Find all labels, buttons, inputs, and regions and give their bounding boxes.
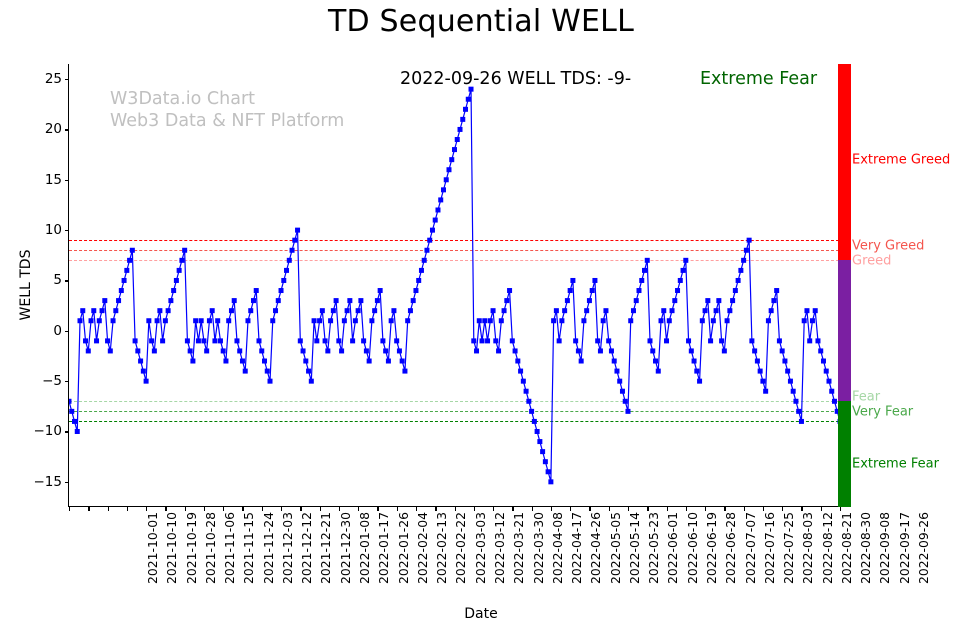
- data-point: [824, 369, 829, 374]
- data-point: [570, 278, 575, 283]
- x-tick-mark: [686, 506, 687, 511]
- data-point: [394, 338, 399, 343]
- data-point: [163, 318, 168, 323]
- data-point: [383, 348, 388, 353]
- x-tick-label-2: 2021-10-19: [184, 512, 199, 584]
- colorbar-label-greed: Greed: [852, 254, 891, 269]
- data-point: [631, 308, 636, 313]
- data-point: [279, 288, 284, 293]
- data-point: [744, 248, 749, 253]
- data-point: [416, 278, 421, 283]
- x-tick-mark: [647, 506, 648, 511]
- data-point: [138, 359, 143, 364]
- data-point: [182, 248, 187, 253]
- data-point: [603, 308, 608, 313]
- y-tick-mark: [65, 180, 70, 181]
- data-point: [818, 348, 823, 353]
- data-point: [639, 278, 644, 283]
- data-point: [234, 338, 239, 343]
- data-point: [207, 318, 212, 323]
- data-point: [179, 258, 184, 263]
- data-point: [634, 298, 639, 303]
- data-point: [218, 338, 223, 343]
- data-point: [675, 288, 680, 293]
- data-point: [614, 369, 619, 374]
- data-point: [683, 258, 688, 263]
- colorbar-label-very-greed: Very Greed: [852, 239, 924, 254]
- data-point: [312, 318, 317, 323]
- data-point: [771, 298, 776, 303]
- x-tick-label-36: 2022-08-21: [839, 512, 854, 584]
- data-point: [262, 359, 267, 364]
- data-point: [345, 308, 350, 313]
- data-point: [458, 127, 463, 132]
- x-tick-mark: [281, 506, 282, 511]
- x-tick-label-1: 2021-10-10: [164, 512, 179, 584]
- data-point: [807, 338, 812, 343]
- data-point: [667, 318, 672, 323]
- data-point: [664, 338, 669, 343]
- y-tick-mark: [65, 230, 70, 231]
- data-point: [557, 338, 562, 343]
- data-point: [617, 379, 622, 384]
- data-point: [97, 318, 102, 323]
- data-point: [364, 348, 369, 353]
- data-point: [325, 348, 330, 353]
- data-point: [298, 338, 303, 343]
- data-point: [548, 479, 553, 484]
- data-point: [328, 318, 333, 323]
- data-point: [551, 318, 556, 323]
- data-point: [122, 278, 127, 283]
- data-point: [215, 318, 220, 323]
- colorbar-label-very-fear: Very Fear: [852, 405, 913, 420]
- data-point: [402, 369, 407, 374]
- data-point: [83, 338, 88, 343]
- y-tick-label-7: 20: [10, 121, 62, 137]
- x-tick-mark: [455, 506, 456, 511]
- data-point: [221, 348, 226, 353]
- data-point: [711, 318, 716, 323]
- y-tick-label-5: 10: [10, 222, 62, 238]
- data-point: [813, 308, 818, 313]
- colorbar-label-extreme-fear: Extreme Fear: [852, 456, 939, 471]
- x-axis-label: Date: [0, 606, 962, 622]
- x-tick-label-33: 2022-07-25: [781, 512, 796, 584]
- x-tick-label-35: 2022-08-12: [820, 512, 835, 584]
- sentiment-colorbar: [838, 64, 851, 507]
- annotation-tds: 2022-09-26 WELL TDS: -9-: [400, 69, 631, 89]
- data-point: [543, 459, 548, 464]
- y-tick-label-4: 5: [10, 272, 62, 288]
- data-point: [268, 379, 273, 384]
- data-point: [441, 187, 446, 192]
- data-point: [152, 348, 157, 353]
- data-point: [287, 258, 292, 263]
- data-point: [738, 268, 743, 273]
- data-point: [229, 308, 234, 313]
- y-tick-label-3: 0: [10, 323, 62, 339]
- data-point: [815, 338, 820, 343]
- data-point: [752, 348, 757, 353]
- data-point: [452, 147, 457, 152]
- data-point: [435, 207, 440, 212]
- data-point: [609, 348, 614, 353]
- y-tick-label-6: 15: [10, 172, 62, 188]
- data-point: [612, 359, 617, 364]
- data-point: [747, 238, 752, 243]
- x-tick-label-30: 2022-06-28: [723, 512, 738, 584]
- data-point: [69, 409, 74, 414]
- annotation-state: Extreme Fear: [700, 69, 817, 89]
- data-point: [284, 268, 289, 273]
- data-point: [323, 338, 328, 343]
- data-point: [796, 409, 801, 414]
- data-point: [303, 359, 308, 364]
- data-point: [119, 288, 124, 293]
- x-tick-mark: [127, 506, 128, 511]
- data-point: [449, 157, 454, 162]
- data-point: [400, 359, 405, 364]
- x-tick-label-25: 2022-05-14: [627, 512, 642, 584]
- data-point: [78, 318, 83, 323]
- x-tick-mark: [416, 506, 417, 511]
- x-tick-label-22: 2022-04-17: [569, 512, 584, 584]
- x-tick-mark: [705, 506, 706, 511]
- data-point: [692, 359, 697, 364]
- data-point: [199, 318, 204, 323]
- data-point: [592, 278, 597, 283]
- data-point: [540, 449, 545, 454]
- data-point: [579, 359, 584, 364]
- y-tick-mark: [65, 79, 70, 80]
- data-point: [623, 399, 628, 404]
- data-point: [562, 308, 567, 313]
- data-point: [433, 218, 438, 223]
- data-point: [736, 278, 741, 283]
- x-tick-label-39: 2022-09-17: [897, 512, 912, 584]
- data-point: [645, 258, 650, 263]
- data-point: [314, 338, 319, 343]
- data-point: [535, 429, 540, 434]
- x-tick-label-40: 2022-09-26: [916, 512, 931, 584]
- data-point: [681, 268, 686, 273]
- data-point: [620, 389, 625, 394]
- data-point: [356, 308, 361, 313]
- data-point: [700, 318, 705, 323]
- x-tick-mark: [204, 506, 205, 511]
- y-tick-mark: [65, 482, 70, 483]
- data-point: [606, 338, 611, 343]
- data-point: [358, 298, 363, 303]
- data-point: [251, 298, 256, 303]
- data-point: [521, 379, 526, 384]
- data-point: [155, 318, 160, 323]
- x-tick-label-17: 2022-03-03: [473, 512, 488, 584]
- x-tick-label-24: 2022-05-05: [608, 512, 623, 584]
- y-tick-label-0: −15: [10, 474, 62, 490]
- data-point: [223, 359, 228, 364]
- data-point: [515, 359, 520, 364]
- data-point: [174, 278, 179, 283]
- data-point: [405, 318, 410, 323]
- data-point: [722, 348, 727, 353]
- data-point: [653, 359, 658, 364]
- data-point: [397, 348, 402, 353]
- data-point: [804, 308, 809, 313]
- x-tick-label-26: 2022-05-23: [646, 512, 661, 584]
- x-tick-mark: [88, 506, 89, 511]
- data-point: [455, 137, 460, 142]
- data-point: [471, 338, 476, 343]
- x-tick-mark: [146, 506, 147, 511]
- data-point: [697, 379, 702, 384]
- data-point: [659, 318, 664, 323]
- data-point: [295, 228, 300, 233]
- x-tick-mark: [339, 506, 340, 511]
- data-point: [372, 308, 377, 313]
- data-point: [292, 238, 297, 243]
- watermark: W3Data.io Chart Web3 Data & NFT Platform: [110, 88, 344, 132]
- data-point: [160, 338, 165, 343]
- data-point: [678, 278, 683, 283]
- data-point: [141, 369, 146, 374]
- data-point: [488, 318, 493, 323]
- y-tick-mark: [65, 331, 70, 332]
- data-point: [130, 248, 135, 253]
- data-point: [648, 338, 653, 343]
- x-tick-label-29: 2022-06-19: [704, 512, 719, 584]
- data-point: [799, 419, 804, 424]
- data-point: [573, 338, 578, 343]
- data-point: [689, 348, 694, 353]
- data-point: [513, 348, 518, 353]
- data-point: [196, 338, 201, 343]
- x-tick-label-28: 2022-06-10: [685, 512, 700, 584]
- data-point: [378, 288, 383, 293]
- data-point: [463, 107, 468, 112]
- data-point: [168, 298, 173, 303]
- data-point: [730, 298, 735, 303]
- data-point: [135, 348, 140, 353]
- x-tick-mark: [223, 506, 224, 511]
- x-tick-mark: [320, 506, 321, 511]
- data-point: [380, 338, 385, 343]
- data-point: [185, 338, 190, 343]
- data-point: [565, 298, 570, 303]
- data-point: [642, 268, 647, 273]
- data-point: [331, 308, 336, 313]
- x-tick-mark: [724, 506, 725, 511]
- x-tick-mark: [493, 506, 494, 511]
- data-point: [94, 338, 99, 343]
- x-tick-mark: [667, 506, 668, 511]
- watermark-line-1: W3Data.io Chart: [110, 89, 255, 109]
- data-point: [171, 288, 176, 293]
- data-point: [424, 248, 429, 253]
- data-point: [782, 359, 787, 364]
- y-tick-mark: [65, 280, 70, 281]
- x-tick-label-5: 2021-11-15: [241, 512, 256, 584]
- data-point: [386, 359, 391, 364]
- data-point: [270, 318, 275, 323]
- data-point: [111, 318, 116, 323]
- x-tick-label-27: 2022-06-01: [665, 512, 680, 584]
- x-tick-label-34: 2022-08-03: [800, 512, 815, 584]
- data-point: [336, 338, 341, 343]
- data-point: [755, 359, 760, 364]
- data-point: [791, 389, 796, 394]
- data-point: [334, 298, 339, 303]
- data-point: [601, 318, 606, 323]
- data-point: [108, 348, 113, 353]
- data-point: [72, 419, 77, 424]
- data-point: [480, 338, 485, 343]
- data-point: [80, 308, 85, 313]
- x-tick-mark: [821, 506, 822, 511]
- x-tick-mark: [165, 506, 166, 511]
- data-point: [391, 308, 396, 313]
- data-point: [493, 338, 498, 343]
- data-point: [733, 288, 738, 293]
- data-point: [636, 288, 641, 293]
- data-point: [259, 348, 264, 353]
- data-point: [369, 318, 374, 323]
- data-point: [598, 348, 603, 353]
- x-tick-mark: [532, 506, 533, 511]
- data-point: [507, 288, 512, 293]
- data-point: [832, 399, 837, 404]
- data-point: [350, 338, 355, 343]
- data-point: [672, 298, 677, 303]
- data-point: [188, 348, 193, 353]
- data-point: [361, 338, 366, 343]
- data-point: [719, 338, 724, 343]
- data-point: [306, 369, 311, 374]
- data-point: [477, 318, 482, 323]
- data-point: [670, 308, 675, 313]
- data-point: [438, 197, 443, 202]
- data-point: [491, 308, 496, 313]
- data-point: [301, 348, 306, 353]
- data-point: [411, 298, 416, 303]
- data-point: [265, 369, 270, 374]
- data-point: [785, 369, 790, 374]
- data-point: [243, 369, 248, 374]
- data-point: [829, 389, 834, 394]
- x-tick-mark: [108, 506, 109, 511]
- data-point: [788, 379, 793, 384]
- data-point: [766, 318, 771, 323]
- data-point: [774, 288, 779, 293]
- data-point: [821, 359, 826, 364]
- data-point: [226, 318, 231, 323]
- page-title: TD Sequential WELL: [0, 4, 962, 39]
- x-tick-mark: [551, 506, 552, 511]
- data-point: [177, 268, 182, 273]
- data-point: [686, 338, 691, 343]
- x-tick-label-16: 2022-02-22: [453, 512, 468, 584]
- data-point: [581, 318, 586, 323]
- data-point: [590, 288, 595, 293]
- x-tick-mark: [262, 506, 263, 511]
- y-tick-mark: [65, 129, 70, 130]
- x-tick-label-0: 2021-10-01: [145, 512, 160, 584]
- data-point: [496, 348, 501, 353]
- data-point: [532, 419, 537, 424]
- colorbar-label-fear: Fear: [852, 390, 880, 405]
- data-point: [758, 369, 763, 374]
- data-point: [777, 338, 782, 343]
- x-tick-label-18: 2022-03-12: [492, 512, 507, 584]
- data-point: [347, 298, 352, 303]
- data-point: [100, 308, 105, 313]
- data-point: [144, 379, 149, 384]
- data-point: [559, 318, 564, 323]
- x-tick-mark: [628, 506, 629, 511]
- x-tick-mark: [358, 506, 359, 511]
- x-tick-label-23: 2022-04-26: [588, 512, 603, 584]
- data-point: [584, 308, 589, 313]
- data-point: [427, 238, 432, 243]
- x-tick-mark: [589, 506, 590, 511]
- x-tick-mark: [609, 506, 610, 511]
- x-tick-label-21: 2022-04-08: [550, 512, 565, 584]
- x-tick-label-6: 2021-11-24: [261, 512, 276, 584]
- colorbar-fear-zone: [838, 401, 851, 507]
- x-tick-mark: [397, 506, 398, 511]
- colorbar-neutral-zone: [838, 260, 851, 401]
- data-point: [474, 348, 479, 353]
- x-tick-label-15: 2022-02-13: [434, 512, 449, 584]
- data-point: [254, 288, 259, 293]
- data-point: [86, 348, 91, 353]
- data-point: [760, 379, 765, 384]
- data-point: [763, 389, 768, 394]
- x-tick-mark: [300, 506, 301, 511]
- data-point: [408, 308, 413, 313]
- data-point: [625, 409, 630, 414]
- x-tick-label-10: 2021-12-30: [338, 512, 353, 584]
- data-point: [587, 298, 592, 303]
- data-point: [290, 248, 295, 253]
- data-point: [91, 308, 96, 313]
- data-point: [389, 318, 394, 323]
- y-tick-label-2: −5: [10, 373, 62, 389]
- data-point: [504, 298, 509, 303]
- x-tick-mark: [782, 506, 783, 511]
- x-tick-label-13: 2022-01-26: [396, 512, 411, 584]
- colorbar-label-extreme-greed: Extreme Greed: [852, 152, 950, 167]
- data-point: [190, 359, 195, 364]
- y-tick-mark: [65, 431, 70, 432]
- data-point: [89, 318, 94, 323]
- x-tick-label-8: 2021-12-12: [299, 512, 314, 584]
- data-point: [568, 288, 573, 293]
- data-point: [802, 318, 807, 323]
- data-point: [273, 308, 278, 313]
- x-tick-label-37: 2022-08-30: [858, 512, 873, 584]
- x-tick-mark: [512, 506, 513, 511]
- data-point: [353, 318, 358, 323]
- data-point: [245, 318, 250, 323]
- x-tick-label-19: 2022-03-21: [511, 512, 526, 584]
- data-point: [320, 308, 325, 313]
- x-tick-label-20: 2022-03-30: [531, 512, 546, 584]
- x-tick-label-11: 2022-01-08: [357, 512, 372, 584]
- data-point: [510, 338, 515, 343]
- x-tick-label-32: 2022-07-16: [762, 512, 777, 584]
